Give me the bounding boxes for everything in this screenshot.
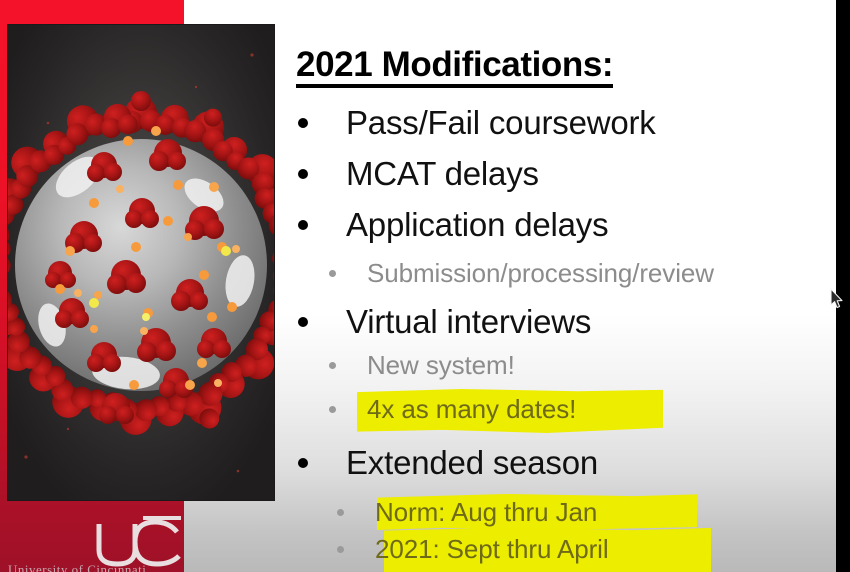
bullet-pass-fail: Pass/Fail coursework	[298, 104, 656, 142]
bullet-dot-icon	[298, 317, 308, 327]
sub-bullet-new-system: New system!	[329, 350, 515, 381]
presentation-slide[interactable]: University of Cincinnati 2021 Modificati…	[0, 0, 836, 572]
sub-bullet-4x-as-many-dates: 4x as many dates!	[329, 394, 576, 425]
bullet-label: Application delays	[346, 206, 608, 244]
bullet-dot-icon	[337, 509, 344, 516]
bullet-dot-icon	[298, 118, 308, 128]
bullet-label: 4x as many dates!	[367, 394, 576, 425]
bullet-label: New system!	[367, 350, 515, 381]
bullet-dot-icon	[329, 362, 336, 369]
bullet-dot-icon	[298, 169, 308, 179]
screen: University of Cincinnati 2021 Modificati…	[0, 0, 850, 572]
bullet-label: Submission/processing/review	[367, 258, 714, 289]
sub-bullet-2021-sept-thru-april: 2021: Sept thru April	[337, 534, 609, 565]
bullet-application-delays: Application delays	[298, 206, 608, 244]
bullet-extended-season: Extended season	[298, 444, 598, 482]
uc-wordmark: University of Cincinnati	[8, 562, 238, 572]
coronavirus-illustration	[8, 25, 274, 500]
bullet-label: Norm: Aug thru Jan	[375, 497, 597, 528]
bullet-label: Pass/Fail coursework	[346, 104, 656, 142]
bullet-dot-icon	[329, 270, 336, 277]
bullet-dot-icon	[298, 220, 308, 230]
bullet-label: 2021: Sept thru April	[375, 534, 609, 565]
letterbox-bar-right	[836, 0, 850, 572]
sub-bullet-submission-processing-review: Submission/processing/review	[329, 258, 714, 289]
bullet-virtual-interviews: Virtual interviews	[298, 303, 591, 341]
slide-title: 2021 Modifications:	[296, 46, 613, 88]
bullet-dot-icon	[337, 546, 344, 553]
bullet-label: Extended season	[346, 444, 598, 482]
bullet-label: Virtual interviews	[346, 303, 591, 341]
sub-bullet-norm-aug-thru-jan: Norm: Aug thru Jan	[337, 497, 597, 528]
bullet-label: MCAT delays	[346, 155, 539, 193]
bullet-mcat-delays: MCAT delays	[298, 155, 539, 193]
bullet-dot-icon	[298, 458, 308, 468]
bullet-dot-icon	[329, 406, 336, 413]
